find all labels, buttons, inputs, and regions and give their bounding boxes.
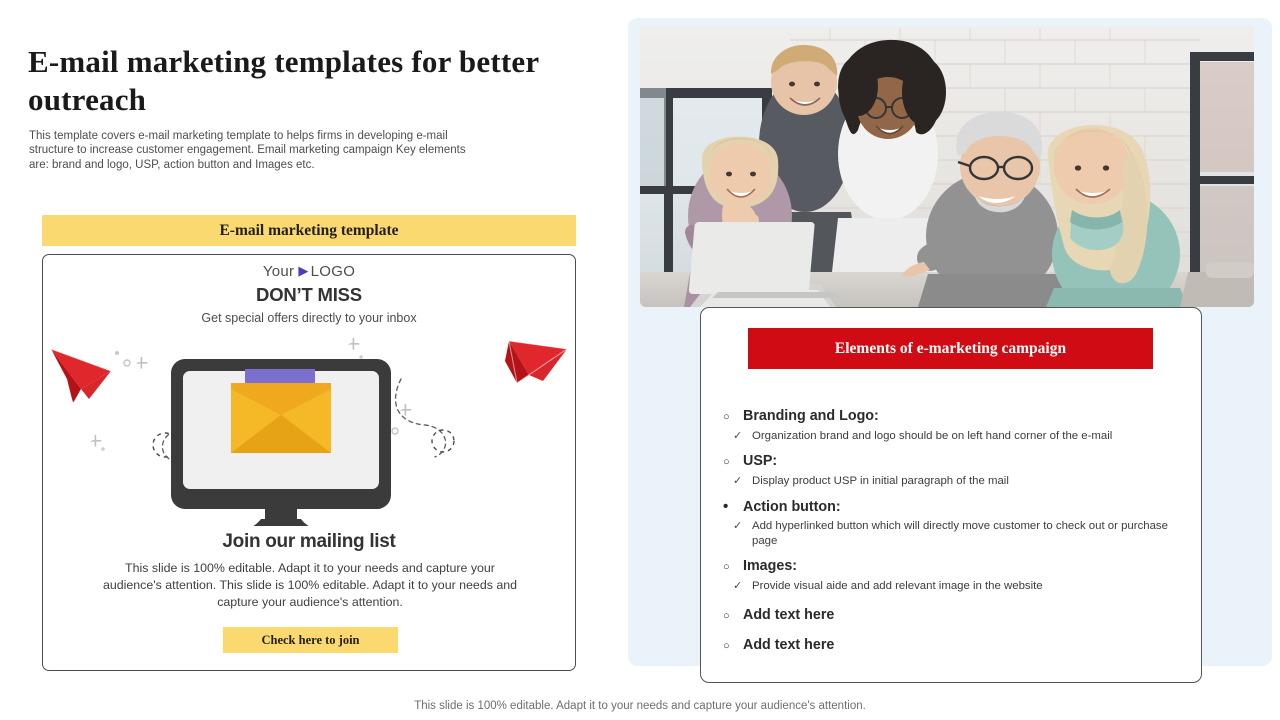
list-item-heading: ○ Add text here [723, 631, 1193, 659]
hollow-circle-bullet-icon: ○ [723, 407, 743, 428]
list-item-heading: ○ Images: [723, 556, 1193, 578]
filled-dot-bullet-icon: • [723, 496, 743, 517]
check-mark-icon: ✓ [733, 429, 752, 444]
list-item-detail: ✓ Organization brand and logo should be … [723, 429, 1193, 444]
hollow-circle-bullet-icon: ○ [723, 636, 743, 657]
email-marketing-template-banner: E-mail marketing template [42, 215, 576, 246]
list-item-heading: • Action button: [723, 496, 1193, 518]
hollow-circle-bullet-icon: ○ [723, 452, 743, 473]
page-title: E-mail marketing templates for better ou… [28, 43, 568, 119]
paper-plane-right [505, 341, 567, 383]
email-subheadline: Get special offers directly to your inbo… [43, 311, 575, 325]
check-mark-icon: ✓ [733, 519, 752, 534]
list-item-label: Add text here [743, 601, 1193, 629]
left-column: E-mail marketing templates for better ou… [0, 0, 610, 690]
monitor-envelope-discount-illustration: % [43, 331, 577, 526]
elements-list: ○ Branding and Logo: ✓ Organization bran… [723, 406, 1193, 661]
list-item-detail-label: Organization brand and logo should be on… [752, 429, 1193, 444]
list-item-label: Branding and Logo: [743, 406, 1193, 427]
check-here-to-join-button[interactable]: Check here to join [223, 627, 398, 653]
list-item-detail-label: Display product USP in initial paragraph… [752, 474, 1193, 489]
list-item-label: USP: [743, 451, 1193, 472]
check-mark-icon: ✓ [733, 579, 752, 594]
list-item[interactable]: ○ Branding and Logo: ✓ Organization bran… [723, 406, 1193, 444]
list-item-label: Add text here [743, 631, 1193, 659]
list-item-heading: ○ USP: [723, 451, 1193, 473]
template-banner-label: E-mail marketing template [219, 222, 398, 240]
list-item[interactable]: ○ Add text here [723, 601, 1193, 629]
team-collaboration-photo [640, 26, 1254, 307]
check-mark-icon: ✓ [733, 474, 752, 489]
logo-suffix-label: LOGO [311, 263, 356, 280]
page-subtitle: This template covers e-mail marketing te… [29, 129, 479, 173]
hollow-circle-bullet-icon: ○ [723, 557, 743, 578]
list-item-detail-label: Provide visual aide and add relevant ima… [752, 579, 1193, 594]
footer-note: This slide is 100% editable. Adapt it to… [0, 700, 1280, 712]
list-item-detail: ✓ Add hyperlinked button which will dire… [723, 519, 1193, 549]
list-item[interactable]: • Action button: ✓ Add hyperlinked butto… [723, 496, 1193, 549]
list-item[interactable]: ○ Images: ✓ Provide visual aide and add … [723, 556, 1193, 594]
email-headline: DON’T MISS [43, 284, 575, 306]
elements-banner-label: Elements of e-marketing campaign [835, 340, 1066, 358]
elements-banner: Elements of e-marketing campaign [748, 328, 1153, 369]
list-item-detail: ✓ Provide visual aide and add relevant i… [723, 579, 1193, 594]
list-item-label: Action button: [743, 497, 1193, 518]
logo-line: Your▶LOGO [43, 263, 575, 280]
hollow-circle-bullet-icon: ○ [723, 606, 743, 627]
paper-plane-left [51, 349, 111, 403]
list-item-heading: ○ Add text here [723, 601, 1193, 629]
join-mailing-list-body: This slide is 100% editable. Adapt it to… [95, 560, 525, 611]
play-triangle-icon: ▶ [298, 263, 308, 279]
join-mailing-list-title: Join our mailing list [43, 531, 575, 553]
elements-of-campaign-card: Elements of e-marketing campaign ○ Brand… [700, 307, 1202, 683]
list-item-detail: ✓ Display product USP in initial paragra… [723, 474, 1193, 489]
list-item-label: Images: [743, 556, 1193, 577]
list-item[interactable]: ○ Add text here [723, 631, 1193, 659]
email-template-card: Your▶LOGO DON’T MISS Get special offers … [42, 254, 576, 671]
list-item-detail-label: Add hyperlinked button which will direct… [752, 519, 1193, 549]
logo-prefix-label: Your [263, 263, 295, 280]
list-item-heading: ○ Branding and Logo: [723, 406, 1193, 428]
list-item[interactable]: ○ USP: ✓ Display product USP in initial … [723, 451, 1193, 489]
